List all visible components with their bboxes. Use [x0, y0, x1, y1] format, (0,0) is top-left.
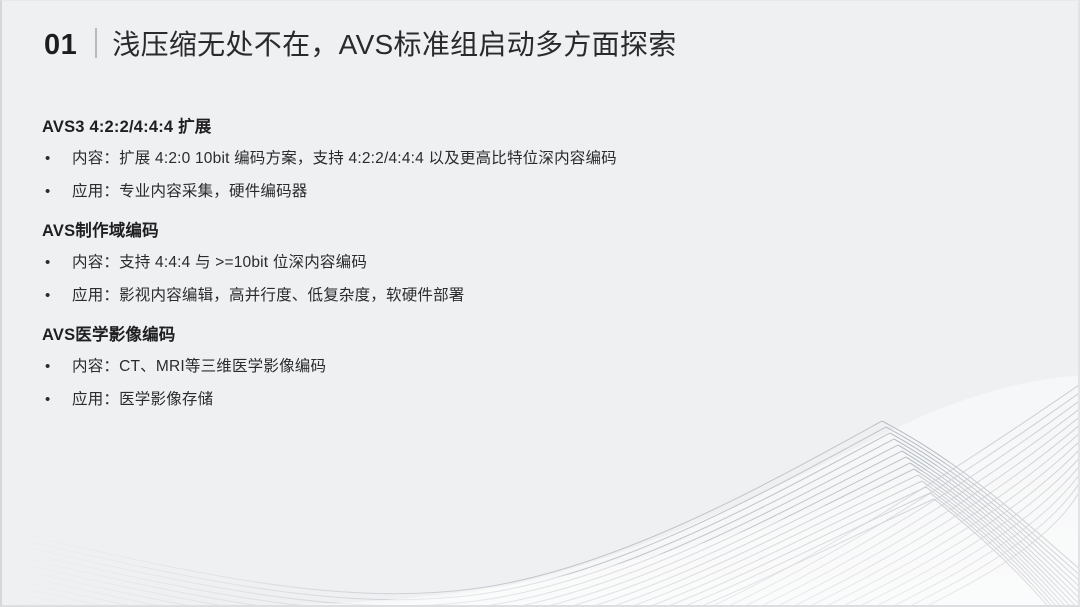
- bullet-marker-icon: •: [42, 389, 72, 411]
- list-item: • 应用：专业内容采集，硬件编码器: [42, 181, 1022, 203]
- bullet-text: 内容：支持 4:4:4 与 >=10bit 位深内容编码: [72, 252, 367, 274]
- slide-content: AVS3 4:2:2/4:4:4 扩展 • 内容：扩展 4:2:0 10bit …: [42, 113, 1022, 411]
- title-separator: [95, 28, 97, 58]
- section-heading: AVS制作域编码: [42, 217, 1022, 241]
- bullet-text: 内容：CT、MRI等三维医学影像编码: [72, 356, 326, 378]
- section-heading: AVS3 4:2:2/4:4:4 扩展: [42, 113, 1022, 137]
- bullet-text: 应用：医学影像存储: [72, 389, 213, 411]
- list-item: • 应用：影视内容编辑，高并行度、低复杂度，软硬件部署: [42, 285, 1022, 307]
- bullet-text: 应用：专业内容采集，硬件编码器: [72, 181, 308, 203]
- list-item: • 内容：支持 4:4:4 与 >=10bit 位深内容编码: [42, 252, 1022, 274]
- page-title: 浅压缩无处不在，AVS标准组启动多方面探索: [112, 23, 676, 63]
- slide-number: 01: [44, 29, 77, 62]
- presentation-slide: 01 浅压缩无处不在，AVS标准组启动多方面探索 AVS3 4:2:2/4:4:…: [0, 0, 1080, 607]
- bullet-marker-icon: •: [42, 285, 72, 307]
- content-section: AVS制作域编码 • 内容：支持 4:4:4 与 >=10bit 位深内容编码 …: [42, 217, 1022, 307]
- bullet-marker-icon: •: [42, 252, 72, 274]
- section-heading: AVS医学影像编码: [42, 321, 1022, 345]
- bullet-text: 内容：扩展 4:2:0 10bit 编码方案，支持 4:2:2/4:4:4 以及…: [72, 148, 617, 170]
- bullet-text: 应用：影视内容编辑，高并行度、低复杂度，软硬件部署: [72, 285, 465, 307]
- content-section: AVS3 4:2:2/4:4:4 扩展 • 内容：扩展 4:2:0 10bit …: [42, 113, 1022, 203]
- list-item: • 内容：CT、MRI等三维医学影像编码: [42, 356, 1022, 378]
- bullet-marker-icon: •: [42, 181, 72, 203]
- list-item: • 内容：扩展 4:2:0 10bit 编码方案，支持 4:2:2/4:4:4 …: [42, 148, 1022, 170]
- slide-title-row: 01 浅压缩无处不在，AVS标准组启动多方面探索: [44, 23, 677, 63]
- list-item: • 应用：医学影像存储: [42, 389, 1022, 411]
- bullet-marker-icon: •: [42, 356, 72, 378]
- bullet-marker-icon: •: [42, 148, 72, 170]
- content-section: AVS医学影像编码 • 内容：CT、MRI等三维医学影像编码 • 应用：医学影像…: [42, 321, 1022, 411]
